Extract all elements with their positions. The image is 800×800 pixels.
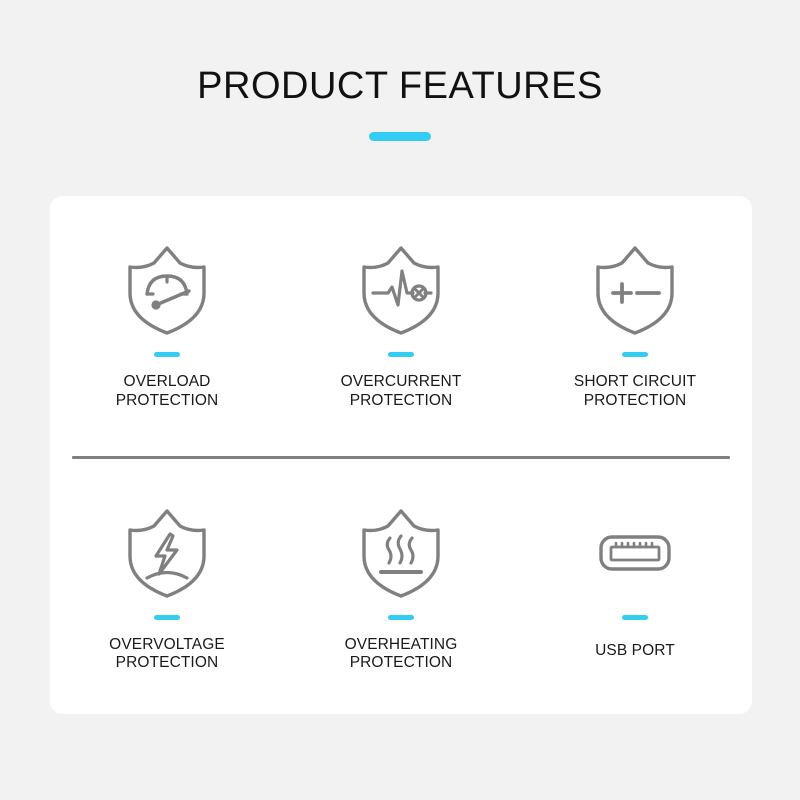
feature-label: SHORT CIRCUIT PROTECTION [574,373,696,411]
feature-item-short-circuit[interactable]: SHORT CIRCUIT PROTECTION [518,196,752,456]
feature-label: USB PORT [595,642,675,661]
feature-label: OVERLOAD PROTECTION [116,373,219,411]
shield-heat-waves-icon [353,505,449,601]
feature-item-overvoltage[interactable]: OVERVOLTAGE PROTECTION [50,459,284,715]
feature-label: OVERVOLTAGE PROTECTION [109,636,225,674]
accent-dash [388,352,414,357]
feature-row-top: OVERLOAD PROTECTION OVERCURRENT PROTECTI… [50,196,752,456]
title-underline-accent [369,132,431,141]
accent-dash [388,615,414,620]
product-features-page: PRODUCT FEATURES [0,0,800,800]
page-header: PRODUCT FEATURES [0,0,800,141]
features-card: OVERLOAD PROTECTION OVERCURRENT PROTECTI… [50,196,752,714]
accent-dash [622,615,648,620]
usb-port-icon [587,505,683,601]
feature-item-usb-port[interactable]: USB PORT [518,459,752,715]
page-title: PRODUCT FEATURES [0,66,800,108]
feature-label: OVERHEATING PROTECTION [345,636,458,674]
feature-item-overheating[interactable]: OVERHEATING PROTECTION [284,459,518,715]
feature-row-bottom: OVERVOLTAGE PROTECTION OVERHEATING PROTE… [50,459,752,715]
feature-item-overload[interactable]: OVERLOAD PROTECTION [50,196,284,456]
shield-gauge-icon [119,242,215,338]
accent-dash [622,352,648,357]
feature-item-overcurrent[interactable]: OVERCURRENT PROTECTION [284,196,518,456]
shield-lightning-bolt-icon [119,505,215,601]
shield-plus-minus-icon [587,242,683,338]
accent-dash [154,615,180,620]
shield-pulse-blocked-icon [353,242,449,338]
accent-dash [154,352,180,357]
feature-label: OVERCURRENT PROTECTION [341,373,462,411]
